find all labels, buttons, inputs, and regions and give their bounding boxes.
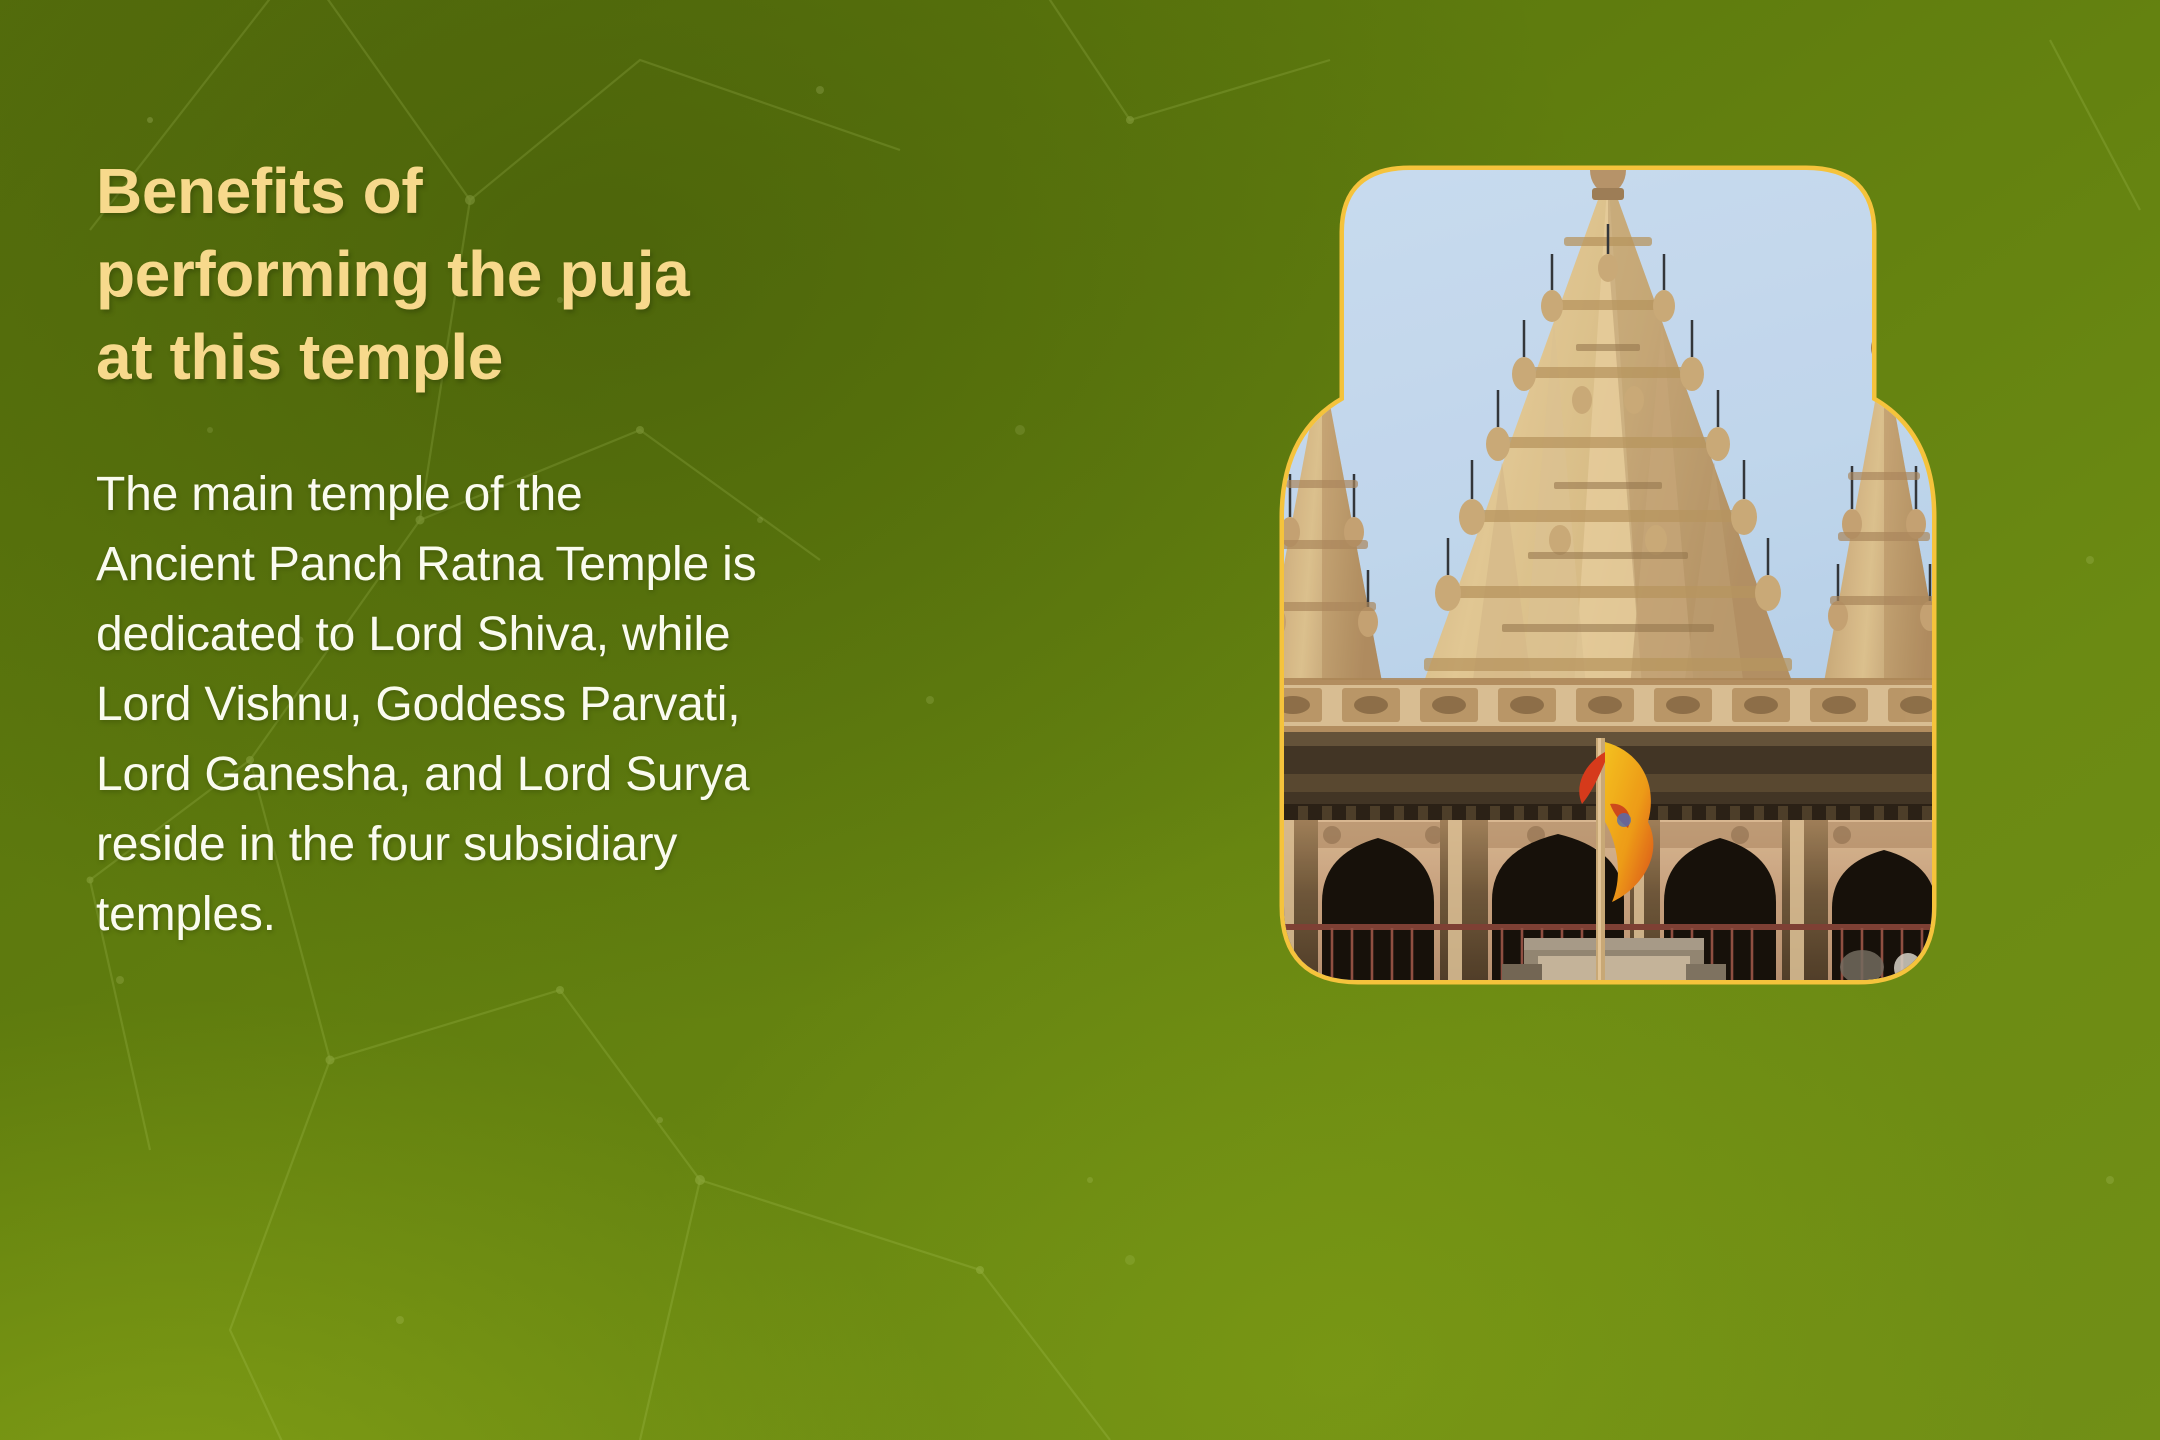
temple-photo-content xyxy=(1172,62,2044,984)
text-column: Benefits of performing the puja at this … xyxy=(96,150,856,950)
body-line-6: reside in the four subsidiary xyxy=(96,818,677,871)
body-paragraph: The main temple of the Ancient Panch Rat… xyxy=(96,460,856,951)
body-line-7: temples. xyxy=(96,888,276,941)
body-line-2: Ancient Panch Ratna Temple is xyxy=(96,538,756,591)
page-title-line-1: Benefits of xyxy=(96,155,422,227)
body-line-1: The main temple of the xyxy=(96,468,583,521)
page-title-line-2: performing the puja xyxy=(96,238,689,310)
body-line-3: dedicated to Lord Shiva, while xyxy=(96,608,730,661)
temple-photo xyxy=(1172,62,2044,980)
temple-photo-frame xyxy=(1172,62,2044,980)
page-title: Benefits of performing the puja at this … xyxy=(96,150,856,400)
body-line-4: Lord Vishnu, Goddess Parvati, xyxy=(96,678,740,731)
body-line-5: Lord Ganesha, and Lord Surya xyxy=(96,748,750,801)
photo-warm-tone xyxy=(1172,62,2044,980)
page-title-line-3: at this temple xyxy=(96,321,503,393)
